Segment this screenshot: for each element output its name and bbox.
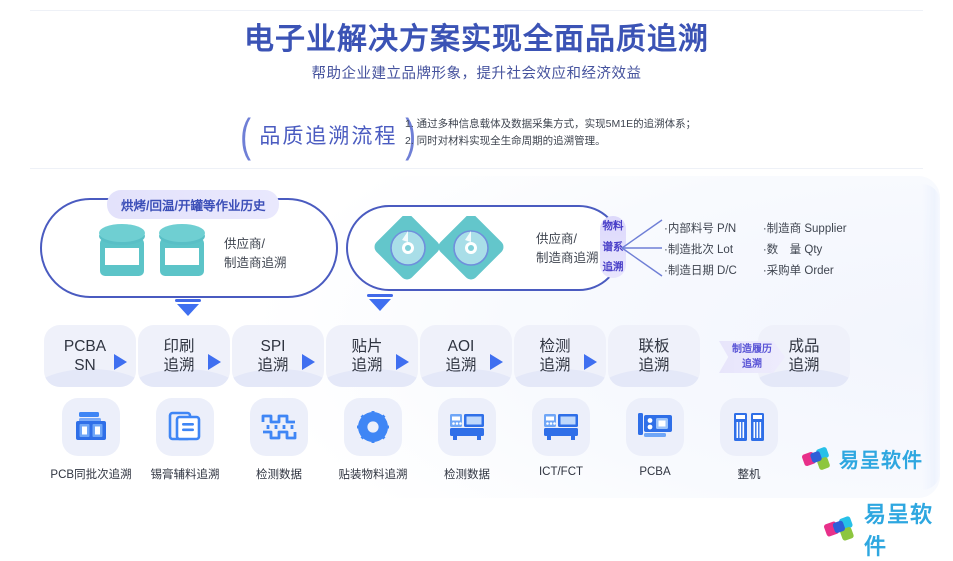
badge-notes: 1. 通过多种信息载体及数据采集方式，实现5M1E的追溯体系； 2. 同时对材料… (405, 116, 696, 150)
down-arrow-right (367, 294, 393, 311)
icon-caption: 锡膏辅料追溯 (138, 466, 232, 482)
watermark-logo: 易呈软件 (802, 444, 923, 473)
attr-internal-pn: ·内部料号 P/N (664, 219, 737, 240)
chevron-right-icon (114, 354, 127, 370)
header-divider-top (30, 10, 923, 11)
reel-jar-icon (96, 222, 208, 280)
right-capsule-caption: 供应商/ 制造商追溯 (536, 230, 599, 268)
badge-note-2: 2. 同时对材料实现全生命周期的追溯管理。 (405, 133, 696, 150)
flow-label-line1: 贴片 (351, 338, 382, 355)
pcba-card-icon (636, 411, 674, 443)
flow-step-pcba-sn[interactable]: PCBASN (44, 325, 136, 387)
attribute-lists: ·内部料号 P/N ·制造批次 Lot ·制造日期 D/C ·制造商 Suppl… (664, 219, 847, 282)
flow-label-line1: 成品 (788, 338, 819, 355)
icon-cell-pcba[interactable]: PCBA (608, 398, 702, 482)
icon-caption: 检测数据 (232, 466, 326, 482)
pinwheel-logo-icon (824, 515, 856, 543)
flow-label-line2: 追溯 (445, 357, 476, 374)
flow-label-line2: SN (74, 357, 96, 374)
attribute-column-2: ·制造商 Supplier ·数 量 Qty ·采购单 Order (763, 219, 847, 282)
header-divider-bottom (30, 168, 923, 169)
footer-logo: 易呈软件 (824, 497, 953, 561)
mid-banner-line1: 制造履历 (719, 342, 785, 357)
chevron-right-icon (584, 354, 597, 370)
test-machine-icon (448, 412, 486, 442)
server-rack-icon (732, 411, 766, 443)
flow-step-test[interactable]: 检测追溯 (514, 325, 606, 387)
icon-cell-pcb-batch[interactable]: PCB同批次追溯 (44, 398, 138, 482)
attr-lot: ·制造批次 Lot (664, 240, 737, 261)
manufacturing-history-banner: 制造履历 追溯 (719, 341, 785, 373)
badge-note-1: 1. 通过多种信息载体及数据采集方式，实现5M1E的追溯体系； (405, 116, 696, 133)
flow-label-line2: 追溯 (788, 357, 819, 374)
chevron-right-icon (208, 354, 221, 370)
flow-step-print[interactable]: 印刷追溯 (138, 325, 230, 387)
jar-icon-1 (96, 222, 148, 280)
chevron-right-icon (396, 354, 409, 370)
icon-row: PCB同批次追溯 锡膏辅料追溯 检测数据 (44, 398, 796, 482)
waveform-stencil-icon (261, 412, 297, 442)
icon-caption: 检测数据 (420, 466, 514, 482)
printer-icon (168, 410, 202, 444)
attr-supplier: ·制造商 Supplier (763, 219, 847, 240)
fan-connector-lines (622, 212, 664, 289)
icon-cell-inspection-data-1[interactable]: 检测数据 (232, 398, 326, 482)
icon-caption: 贴装物料追溯 (326, 466, 420, 482)
flow-label-line1: 印刷 (163, 338, 194, 355)
chevron-right-icon (302, 354, 315, 370)
flow-step-panel[interactable]: 联板追溯 (608, 325, 700, 387)
left-capsule-caption-2: 制造商追溯 (224, 254, 287, 273)
jar-icon-2 (156, 222, 208, 280)
flow-label-line2: 追溯 (257, 357, 288, 374)
flow-step-aoi[interactable]: AOI追溯 (420, 325, 512, 387)
arrow-triangle (177, 304, 199, 316)
flow-label-line1: AOI (448, 338, 475, 355)
flow-label-line2: 追溯 (539, 357, 570, 374)
icon-cell-ict-fct[interactable]: ICT/FCT (514, 398, 608, 482)
footer-logo-text: 易呈软件 (864, 497, 953, 561)
process-badge: ( 品质追溯流程 ) (238, 112, 419, 158)
chevron-right-icon (490, 354, 503, 370)
right-capsule-caption-2: 制造商追溯 (536, 249, 599, 268)
left-capsule-caption: 供应商/ 制造商追溯 (224, 235, 287, 273)
flow-label-line2: 追溯 (163, 357, 194, 374)
attribute-column-1: ·内部料号 P/N ·制造批次 Lot ·制造日期 D/C (664, 219, 737, 282)
badge-label: 品质追溯流程 (253, 120, 403, 150)
icon-caption: 整机 (702, 466, 796, 482)
icon-caption: PCB同批次追溯 (44, 466, 138, 482)
mid-banner-line2: 追溯 (719, 357, 785, 372)
arrow-bar (367, 294, 393, 297)
flow-step-placement[interactable]: 贴片追溯 (326, 325, 418, 387)
pinwheel-logo-icon (802, 446, 832, 472)
flow-label-line1: PCBA (64, 338, 106, 355)
watermark-text: 易呈软件 (839, 444, 923, 473)
right-capsule-caption-1: 供应商/ (536, 230, 599, 249)
icon-cell-whole-machine[interactable]: 整机 (702, 398, 796, 482)
pcb-boards-icon (73, 410, 109, 444)
slide-root: 电子业解决方案实现全面品质追溯 帮助企业建立品牌形象，提升社会效应和经济效益 (… (0, 0, 953, 529)
badge-left-paren: ( (240, 112, 251, 158)
attr-date-code: ·制造日期 D/C (664, 261, 737, 282)
test-machine-icon (542, 412, 580, 442)
arrow-triangle (369, 299, 391, 311)
bake-history-pill: 烘烤/回温/开罐等作业历史 (107, 190, 279, 219)
attr-qty: ·数 量 Qty (763, 240, 847, 261)
flow-label-line1: 检测 (539, 338, 570, 355)
down-arrow-left (175, 299, 201, 316)
flow-label-line1: SPI (261, 338, 286, 355)
icon-cell-inspection-data-2[interactable]: 检测数据 (420, 398, 514, 482)
reel-diamond-icon (372, 216, 514, 285)
attr-order: ·采购单 Order (763, 261, 847, 282)
flow-label-line2: 追溯 (351, 357, 382, 374)
icon-caption: PCBA (608, 466, 702, 478)
page-subtitle: 帮助企业建立品牌形象，提升社会效应和经济效益 (0, 62, 953, 83)
icon-cell-solder-paste[interactable]: 锡膏辅料追溯 (138, 398, 232, 482)
arrow-bar (175, 299, 201, 302)
flow-label-line2: 追溯 (638, 357, 669, 374)
flow-step-spi[interactable]: SPI追溯 (232, 325, 324, 387)
icon-caption: ICT/FCT (514, 466, 608, 478)
icon-cell-placement-material[interactable]: 贴装物料追溯 (326, 398, 420, 482)
flow-label-line1: 联板 (638, 338, 669, 355)
left-capsule-caption-1: 供应商/ (224, 235, 287, 254)
gear-icon (356, 410, 390, 444)
page-title: 电子业解决方案实现全面品质追溯 (0, 14, 953, 58)
